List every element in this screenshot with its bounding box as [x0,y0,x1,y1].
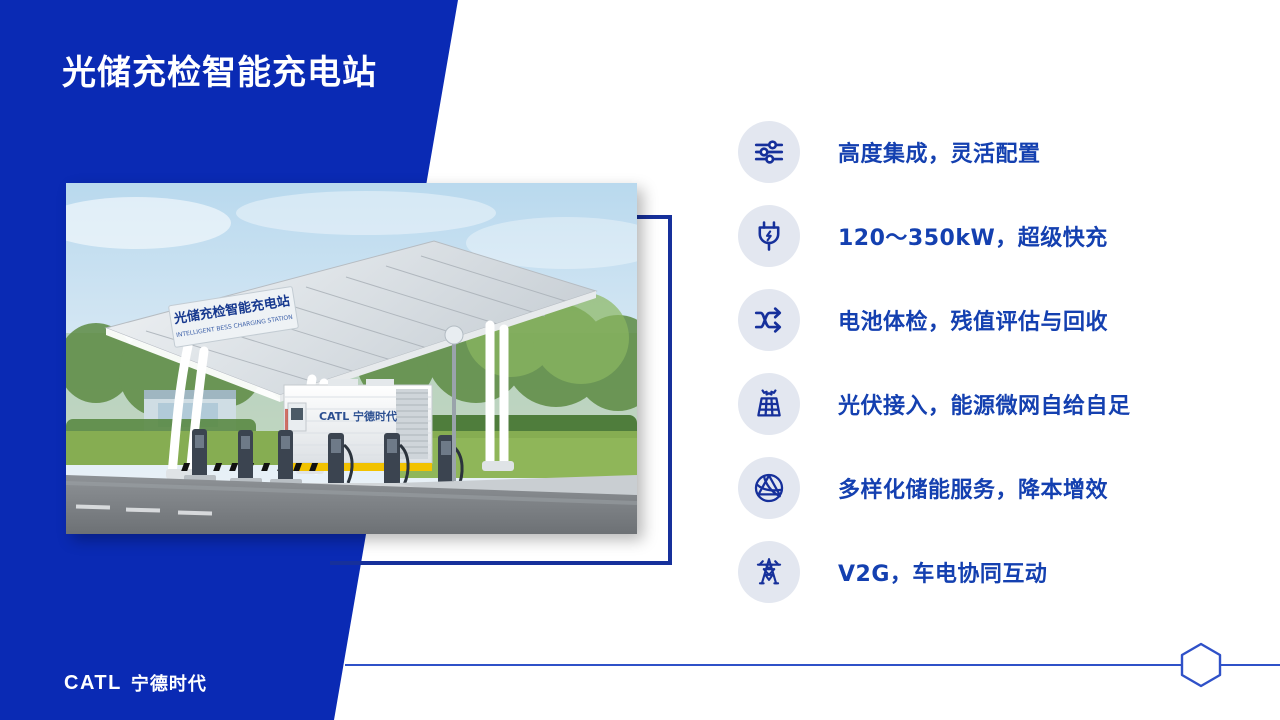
sliders-icon [738,121,800,183]
logo-latin-text: CATL [64,672,122,695]
feature-label-5: 多样化储能服务，降本增效 [838,472,1108,504]
feature-item-1[interactable]: 高度集成，灵活配置 [738,118,1131,186]
feature-item-2[interactable]: 120～350kW，超级快充 [738,202,1131,270]
energy-network-icon [738,457,800,519]
slide-root: 光储充检智能充电站 [0,0,1280,720]
catl-logo: CATL 宁德时代 [64,670,207,696]
feature-item-5[interactable]: 多样化储能服务，降本增效 [738,454,1131,522]
logo-chinese-text: 宁德时代 [131,670,207,696]
station-photo: 光储充检智能充电站 INTELLIGENT BESS CHARGING STAT… [66,183,637,534]
feature-item-6[interactable]: V2G，车电协同互动 [738,538,1131,606]
shuffle-icon [738,289,800,351]
hexagon-marker-icon [1178,641,1224,689]
feature-list: 高度集成，灵活配置 120～350kW，超级快充 [738,118,1131,606]
feature-item-4[interactable]: 光伏接入，能源微网自给自足 [738,370,1131,438]
svg-text:CATL 宁德时代: CATL 宁德时代 [319,409,397,423]
feature-label-2: 120～350kW，超级快充 [838,220,1108,252]
power-tower-icon [738,541,800,603]
plug-icon [738,205,800,267]
footer-divider-line [345,664,1280,666]
feature-label-6: V2G，车电协同互动 [838,556,1047,588]
page-title: 光储充检智能充电站 [62,45,377,94]
solar-panel-icon [738,373,800,435]
feature-label-1: 高度集成，灵活配置 [838,136,1041,168]
feature-label-4: 光伏接入，能源微网自给自足 [838,388,1131,420]
feature-item-3[interactable]: 电池体检，残值评估与回收 [738,286,1131,354]
feature-label-3: 电池体检，残值评估与回收 [838,304,1108,336]
